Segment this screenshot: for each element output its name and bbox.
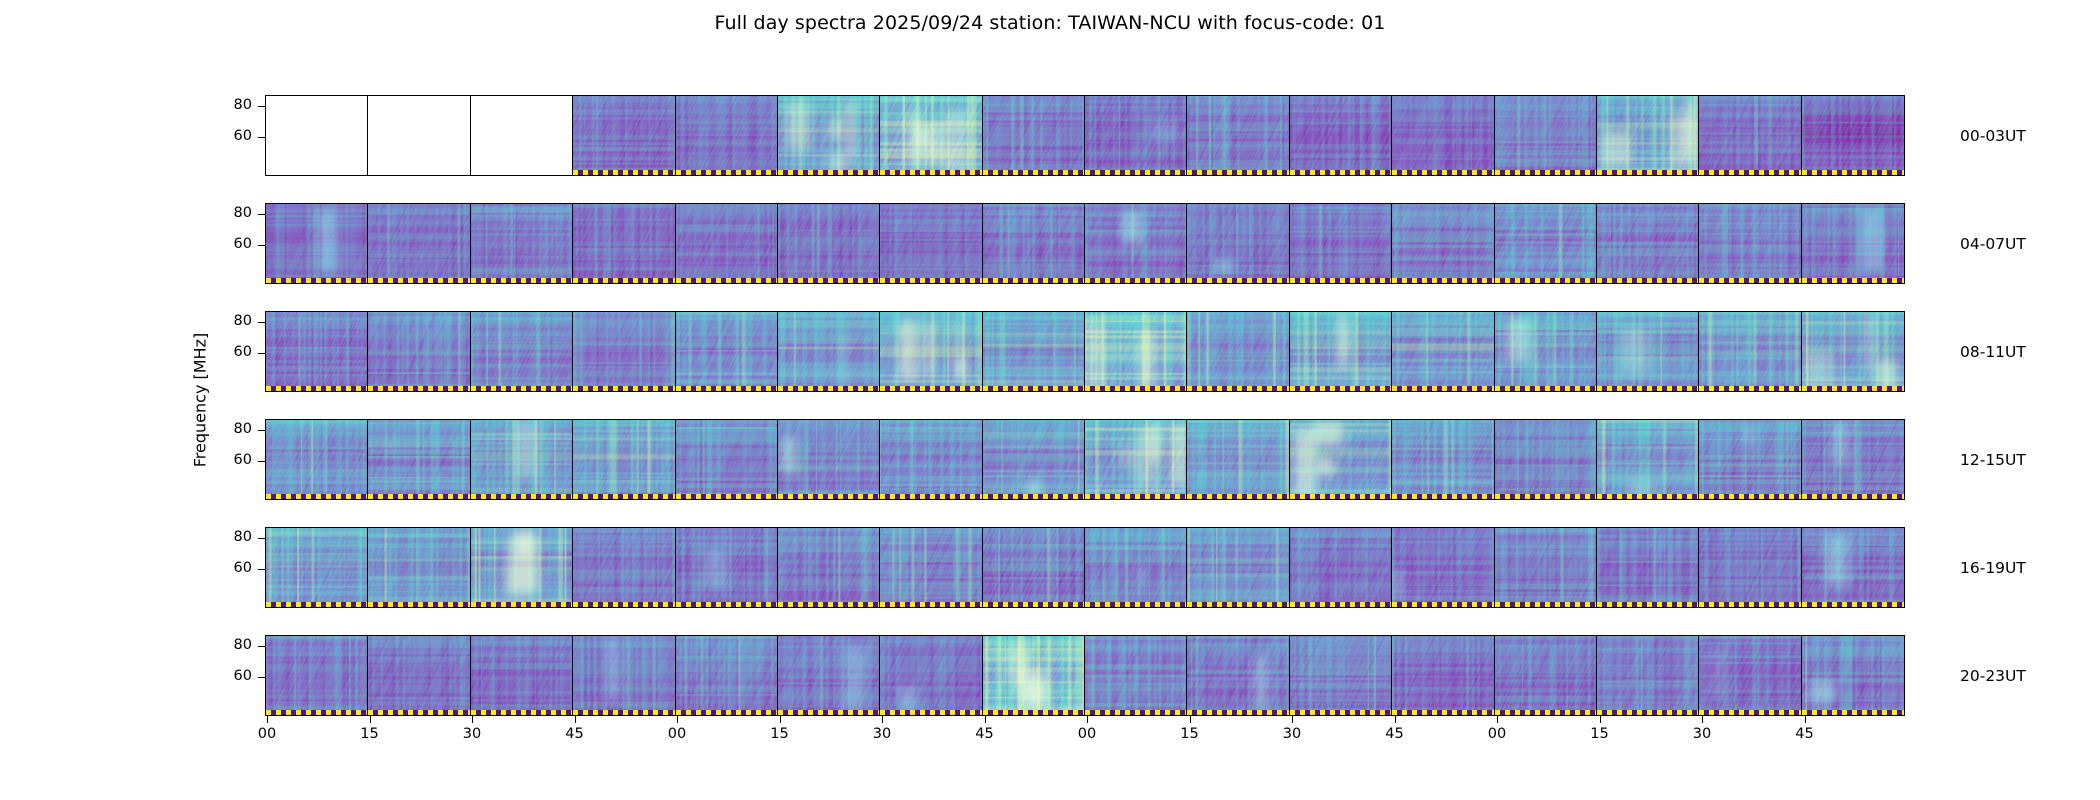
spectrogram-image	[1085, 528, 1186, 607]
x-tick-label: 30	[1272, 727, 1312, 742]
spectrogram-bright-feature	[1861, 209, 1884, 270]
spectrogram-image	[471, 528, 572, 607]
spectrogram-panel[interactable]	[676, 528, 778, 607]
saturated-bottom-strip	[1699, 602, 1800, 607]
spectrogram-bright-feature	[1120, 447, 1135, 466]
saturated-bottom-strip	[1392, 602, 1493, 607]
spectrogram-image	[1187, 204, 1288, 283]
spectrogram-panel[interactable]	[1699, 420, 1801, 499]
spectrogram-panel[interactable]	[778, 420, 880, 499]
spectrogram-panel[interactable]	[983, 636, 1085, 715]
spectrogram-panel[interactable]	[1085, 312, 1187, 391]
spectrogram-image	[1085, 312, 1186, 391]
y-tick-mark	[258, 430, 265, 431]
spectrogram-image	[1187, 420, 1288, 499]
spectrogram-panel[interactable]	[1392, 312, 1494, 391]
saturated-bottom-strip	[1290, 386, 1391, 391]
spectrogram-panel[interactable]	[1290, 528, 1392, 607]
spectrogram-panel[interactable]	[1699, 636, 1801, 715]
spectrogram-image	[471, 420, 572, 499]
spectrogram-image	[1392, 96, 1493, 175]
y-tick-label: 80	[206, 314, 252, 329]
spectrogram-panel[interactable]	[368, 636, 470, 715]
spectrogram-image	[1290, 420, 1391, 499]
saturated-bottom-strip	[880, 278, 981, 283]
spectrogram-image	[573, 528, 674, 607]
spectrogram-image	[471, 204, 572, 283]
spectrogram-image	[1597, 420, 1698, 499]
saturated-bottom-strip	[1597, 386, 1698, 391]
spectrogram-panel[interactable]	[1495, 96, 1597, 175]
spectrogram-panel[interactable]	[1802, 636, 1904, 715]
spectrogram-image	[266, 420, 367, 499]
spectrogram-bright-feature	[1140, 330, 1154, 389]
saturated-bottom-strip	[368, 602, 469, 607]
saturated-bottom-strip	[1290, 278, 1391, 283]
saturated-bottom-strip	[573, 710, 674, 715]
spectrogram-bright-feature	[1025, 682, 1047, 702]
saturated-bottom-strip	[1495, 278, 1596, 283]
x-tick-label: 30	[452, 727, 492, 742]
saturated-bottom-strip	[983, 710, 1084, 715]
spectrogram-bright-feature	[786, 102, 810, 150]
spectrogram-panel[interactable]	[778, 528, 880, 607]
spectrogram-panel[interactable]	[1597, 420, 1699, 499]
spectrogram-image	[1495, 420, 1596, 499]
spectrogram-image	[1085, 204, 1186, 283]
spectrogram-row[interactable]	[265, 419, 1905, 500]
spectrogram-panel[interactable]	[676, 636, 778, 715]
spectrogram-panel[interactable]	[1290, 96, 1392, 175]
spectrogram-panel[interactable]	[1290, 420, 1392, 499]
y-tick-label: 80	[206, 206, 252, 221]
saturated-bottom-strip	[880, 386, 981, 391]
saturated-bottom-strip	[778, 602, 879, 607]
saturated-bottom-strip	[1495, 494, 1596, 499]
spectrogram-image	[1802, 420, 1904, 499]
spectrogram-image	[1802, 528, 1904, 607]
spectrogram-panel[interactable]	[1495, 636, 1597, 715]
spectrogram-row[interactable]	[265, 527, 1905, 608]
spectrogram-panel[interactable]	[1495, 528, 1597, 607]
spectrogram-image	[880, 204, 981, 283]
spectrogram-image	[1290, 312, 1391, 391]
saturated-bottom-strip	[471, 710, 572, 715]
spectrogram-panel[interactable]	[1085, 636, 1187, 715]
spectrogram-panel[interactable]	[1802, 420, 1904, 499]
spectrogram-panel[interactable]	[983, 96, 1085, 175]
spectrogram-panel[interactable]	[1495, 420, 1597, 499]
spectrogram-row[interactable]	[265, 95, 1905, 176]
x-tick-label: 15	[1580, 727, 1620, 742]
spectrogram-image	[368, 312, 469, 391]
saturated-bottom-strip	[778, 494, 879, 499]
spectrogram-panel[interactable]	[573, 96, 675, 175]
spectrogram-panel[interactable]	[471, 636, 573, 715]
saturated-bottom-strip	[1699, 494, 1800, 499]
saturated-bottom-strip	[1187, 602, 1288, 607]
spectrogram-image	[1392, 420, 1493, 499]
spectrogram-panel[interactable]	[573, 204, 675, 283]
y-tick-mark	[258, 106, 265, 107]
spectrogram-panel[interactable]	[368, 312, 470, 391]
spectrogram-image	[1290, 636, 1391, 715]
spectrogram-panel[interactable]	[676, 420, 778, 499]
spectrogram-panel[interactable]	[1392, 420, 1494, 499]
spectrogram-panel[interactable]	[880, 312, 982, 391]
spectrogram-panel[interactable]	[676, 312, 778, 391]
saturated-bottom-strip	[1290, 710, 1391, 715]
spectrogram-image	[266, 312, 367, 391]
spectrogram-image	[1495, 204, 1596, 283]
spectrogram-panel-blank[interactable]	[368, 96, 470, 175]
spectrogram-image	[880, 312, 981, 391]
spectrogram-image	[1290, 204, 1391, 283]
spectrogram-panel[interactable]	[1495, 312, 1597, 391]
spectrogram-panel[interactable]	[1802, 96, 1904, 175]
spectrogram-image	[1495, 312, 1596, 391]
saturated-bottom-strip	[266, 386, 367, 391]
saturated-bottom-strip	[983, 602, 1084, 607]
spectrogram-panel[interactable]	[1802, 204, 1904, 283]
spectrogram-panel[interactable]	[778, 312, 880, 391]
spectrogram-image	[1392, 636, 1493, 715]
spectrogram-image	[1187, 528, 1288, 607]
spectrogram-image	[1290, 528, 1391, 607]
spectrogram-panel[interactable]	[471, 528, 573, 607]
x-tick-mark	[267, 716, 268, 723]
spectrogram-image	[778, 312, 879, 391]
x-tick-mark	[472, 716, 473, 723]
spectrogram-panel[interactable]	[368, 420, 470, 499]
spectrogram-image	[1392, 312, 1493, 391]
spectrogram-bright-feature	[1122, 211, 1141, 244]
x-tick-mark	[1395, 716, 1396, 723]
spectrogram-panel[interactable]	[1392, 204, 1494, 283]
spectrogram-panel[interactable]	[1085, 96, 1187, 175]
spectrogram-panel-blank[interactable]	[266, 96, 368, 175]
x-tick-mark	[1702, 716, 1703, 723]
spectrogram-panel[interactable]	[471, 420, 573, 499]
row-label-00-03ut: 00-03UT	[1960, 127, 2026, 145]
spectrogram-panel[interactable]	[880, 420, 982, 499]
saturated-bottom-strip	[676, 386, 777, 391]
spectrogram-image	[266, 528, 367, 607]
spectrogram-panel[interactable]	[676, 204, 778, 283]
spectrogram-bright-feature	[1809, 681, 1836, 703]
spectrogram-panel[interactable]	[266, 204, 368, 283]
spectrogram-panel[interactable]	[1187, 312, 1289, 391]
spectrogram-image	[676, 528, 777, 607]
spectrogram-panel[interactable]	[880, 528, 982, 607]
spectrogram-bright-feature	[522, 534, 527, 555]
y-tick-label: 80	[206, 638, 252, 653]
spectrogram-image	[1699, 420, 1800, 499]
saturated-bottom-strip	[1290, 602, 1391, 607]
spectrogram-image	[1495, 636, 1596, 715]
saturated-bottom-strip	[1597, 278, 1698, 283]
spectrogram-bright-feature	[899, 320, 916, 381]
spectrogram-image	[880, 528, 981, 607]
y-tick-mark	[258, 538, 265, 539]
spectrogram-panel[interactable]	[1085, 528, 1187, 607]
spectrogram-image	[266, 636, 367, 715]
saturated-bottom-strip	[1495, 170, 1596, 175]
x-tick-label: 30	[862, 727, 902, 742]
spectrogram-image	[778, 420, 879, 499]
axes-stack	[265, 95, 1905, 720]
x-tick-mark	[370, 716, 371, 723]
saturated-bottom-strip	[1495, 602, 1596, 607]
spectrogram-bright-feature	[847, 101, 854, 157]
spectrogram-bright-feature	[318, 209, 336, 271]
spectrogram-image	[778, 204, 879, 283]
spectrogram-panel[interactable]	[880, 636, 982, 715]
spectrogram-panel[interactable]	[1290, 312, 1392, 391]
spectrogram-panel[interactable]	[1699, 528, 1801, 607]
spectrogram-panel[interactable]	[1699, 312, 1801, 391]
saturated-bottom-strip	[778, 710, 879, 715]
spectrogram-panel[interactable]	[573, 420, 675, 499]
spectrogram-panel[interactable]	[778, 636, 880, 715]
spectrogram-panel[interactable]	[573, 636, 675, 715]
spectrogram-bright-feature	[1172, 424, 1186, 485]
spectrogram-image	[1187, 312, 1288, 391]
spectrogram-panel[interactable]	[1597, 528, 1699, 607]
x-tick-label: 00	[657, 727, 697, 742]
spectrogram-panel[interactable]	[1187, 96, 1289, 175]
spectrogram-panel[interactable]	[1290, 204, 1392, 283]
y-tick-label: 80	[206, 98, 252, 113]
spectrogram-row[interactable]	[265, 311, 1905, 392]
row-label-12-15ut: 12-15UT	[1960, 451, 2026, 469]
spectrogram-panel[interactable]	[1802, 312, 1904, 391]
spectrogram-panel[interactable]	[368, 528, 470, 607]
x-tick-label: 00	[247, 727, 287, 742]
saturated-bottom-strip	[1802, 170, 1904, 175]
spectrogram-panel[interactable]	[1187, 420, 1289, 499]
spectrogram-image	[368, 528, 469, 607]
spectrogram-bright-feature	[1019, 637, 1025, 703]
spectrogram-image	[1392, 204, 1493, 283]
saturated-bottom-strip	[676, 170, 777, 175]
x-tick-label: 00	[1067, 727, 1107, 742]
saturated-bottom-strip	[880, 710, 981, 715]
saturated-bottom-strip	[266, 602, 367, 607]
saturated-bottom-strip	[1802, 602, 1904, 607]
spectrogram-panel[interactable]	[1187, 204, 1289, 283]
spectrogram-bright-feature	[1295, 429, 1316, 496]
spectrogram-image	[1699, 528, 1800, 607]
y-tick-label: 60	[206, 345, 252, 360]
spectrogram-bright-feature	[515, 421, 538, 478]
x-tick-mark	[677, 716, 678, 723]
y-tick-label: 80	[206, 530, 252, 545]
spectrogram-bright-feature	[1313, 422, 1343, 446]
saturated-bottom-strip	[983, 278, 1084, 283]
spectrogram-image	[266, 204, 367, 283]
spectrogram-image	[983, 204, 1084, 283]
spectrogram-bright-feature	[945, 110, 968, 174]
spectrogram-bright-feature	[1867, 313, 1871, 376]
saturated-bottom-strip	[1802, 278, 1904, 283]
spectrogram-panel[interactable]	[1187, 636, 1289, 715]
spectrogram-panel[interactable]	[266, 420, 368, 499]
spectrogram-bright-feature	[705, 550, 728, 589]
spectrogram-panel[interactable]	[983, 528, 1085, 607]
spectrogram-panel[interactable]	[983, 420, 1085, 499]
y-tick-mark	[258, 245, 265, 246]
spectrogram-panel[interactable]	[1187, 528, 1289, 607]
saturated-bottom-strip	[1085, 602, 1186, 607]
spectrogram-panel[interactable]	[266, 636, 368, 715]
x-tick-mark	[1600, 716, 1601, 723]
x-tick-label: 00	[1477, 727, 1517, 742]
saturated-bottom-strip	[1495, 710, 1596, 715]
spectrogram-image	[368, 636, 469, 715]
spectrogram-panel[interactable]	[1085, 204, 1187, 283]
spectrogram-panel[interactable]	[1699, 96, 1801, 175]
saturated-bottom-strip	[1597, 710, 1698, 715]
spectrogram-image	[1495, 528, 1596, 607]
y-tick-label: 60	[206, 237, 252, 252]
spectrogram-image	[1802, 204, 1904, 283]
saturated-bottom-strip	[1187, 710, 1288, 715]
saturated-bottom-strip	[1699, 386, 1800, 391]
spectrogram-panel[interactable]	[1495, 204, 1597, 283]
y-tick-label: 60	[206, 129, 252, 144]
spectrogram-panel[interactable]	[1392, 96, 1494, 175]
spectrogram-bright-feature	[922, 321, 935, 377]
spectrogram-panel[interactable]	[471, 204, 573, 283]
spectrogram-bright-feature	[1621, 327, 1649, 375]
spectrogram-bright-feature	[1712, 646, 1723, 701]
spectrogram-image	[1290, 96, 1391, 175]
spectrogram-image	[778, 636, 879, 715]
saturated-bottom-strip	[1187, 170, 1288, 175]
spectrogram-panel[interactable]	[368, 204, 470, 283]
saturated-bottom-strip	[983, 170, 1084, 175]
spectrogram-image	[1597, 528, 1698, 607]
spectrogram-image	[573, 636, 674, 715]
y-tick-mark	[258, 322, 265, 323]
spectrogram-bright-feature	[1746, 427, 1752, 444]
spectrogram-image	[1802, 636, 1904, 715]
saturated-bottom-strip	[983, 494, 1084, 499]
saturated-bottom-strip	[1802, 494, 1904, 499]
x-tick-label: 15	[1170, 727, 1210, 742]
x-tick-label: 45	[555, 727, 595, 742]
spectrogram-image	[676, 312, 777, 391]
spectrogram-panel[interactable]	[880, 204, 982, 283]
spectrogram-image	[573, 420, 674, 499]
saturated-bottom-strip	[1597, 494, 1698, 499]
spectrogram-panel[interactable]	[1392, 636, 1494, 715]
spectrogram-image	[1597, 636, 1698, 715]
saturated-bottom-strip	[1392, 710, 1493, 715]
spectrogram-bright-feature	[386, 434, 391, 451]
saturated-bottom-strip	[1085, 278, 1186, 283]
saturated-bottom-strip	[573, 494, 674, 499]
spectrogram-panel[interactable]	[266, 312, 368, 391]
x-tick-mark	[1497, 716, 1498, 723]
spectrogram-image	[983, 420, 1084, 499]
saturated-bottom-strip	[1085, 494, 1186, 499]
spectrogram-panel[interactable]	[573, 528, 675, 607]
saturated-bottom-strip	[573, 602, 674, 607]
spectrogram-panel[interactable]	[676, 96, 778, 175]
saturated-bottom-strip	[573, 278, 674, 283]
spectrogram-panel[interactable]	[1597, 312, 1699, 391]
spectrogram-image	[471, 312, 572, 391]
spectrogram-panel[interactable]	[1392, 528, 1494, 607]
spectrogram-image	[1187, 96, 1288, 175]
spectrogram-image	[1085, 420, 1186, 499]
spectrogram-image	[1699, 636, 1800, 715]
y-tick-mark	[258, 646, 265, 647]
spectrogram-bright-feature	[1317, 457, 1334, 477]
spectrogram-panel[interactable]	[471, 312, 573, 391]
spectrogram-bright-feature	[1151, 121, 1181, 145]
saturated-bottom-strip	[676, 494, 777, 499]
saturated-bottom-strip	[1392, 494, 1493, 499]
spectrogram-panel[interactable]	[1699, 204, 1801, 283]
spectrogram-panel[interactable]	[778, 96, 880, 175]
spectrogram-panel[interactable]	[1085, 420, 1187, 499]
saturated-bottom-strip	[1187, 278, 1288, 283]
saturated-bottom-strip	[778, 278, 879, 283]
saturated-bottom-strip	[676, 602, 777, 607]
spectrogram-bright-feature	[828, 117, 845, 140]
spectrogram-image	[880, 420, 981, 499]
spectrogram-image	[1085, 636, 1186, 715]
spectrogram-panel[interactable]	[1290, 636, 1392, 715]
saturated-bottom-strip	[1699, 710, 1800, 715]
spectrogram-bright-feature	[1214, 259, 1235, 274]
spectrogram-panel[interactable]	[573, 312, 675, 391]
spectrogram-panel[interactable]	[1597, 96, 1699, 175]
spectrogram-panel[interactable]	[983, 312, 1085, 391]
spectrogram-panel[interactable]	[266, 528, 368, 607]
x-tick-mark	[882, 716, 883, 723]
x-tick-label: 45	[965, 727, 1005, 742]
y-tick-label: 60	[206, 669, 252, 684]
spectrogram-bright-feature	[1806, 351, 1834, 389]
spectrogram-panel-blank[interactable]	[471, 96, 573, 175]
saturated-bottom-strip	[1290, 170, 1391, 175]
spectrogram-row[interactable]	[265, 635, 1905, 716]
spectrogram-row[interactable]	[265, 203, 1905, 284]
x-tick-label: 45	[1785, 727, 1825, 742]
saturated-bottom-strip	[1085, 710, 1186, 715]
y-tick-label: 60	[206, 561, 252, 576]
saturated-bottom-strip	[1085, 386, 1186, 391]
saturated-bottom-strip	[368, 710, 469, 715]
spectrogram-panel[interactable]	[778, 204, 880, 283]
spectrogram-panel[interactable]	[1597, 636, 1699, 715]
spectrogram-bright-feature	[1508, 318, 1530, 362]
spectrogram-bright-feature	[1135, 430, 1159, 488]
spectrogram-panel[interactable]	[1802, 528, 1904, 607]
spectrogram-panel[interactable]	[880, 96, 982, 175]
saturated-bottom-strip	[1802, 386, 1904, 391]
spectrogram-panel[interactable]	[1597, 204, 1699, 283]
saturated-bottom-strip	[1392, 278, 1493, 283]
spectrogram-panel[interactable]	[983, 204, 1085, 283]
x-tick-mark	[1805, 716, 1806, 723]
spectrogram-image	[368, 420, 469, 499]
saturated-bottom-strip	[1187, 494, 1288, 499]
